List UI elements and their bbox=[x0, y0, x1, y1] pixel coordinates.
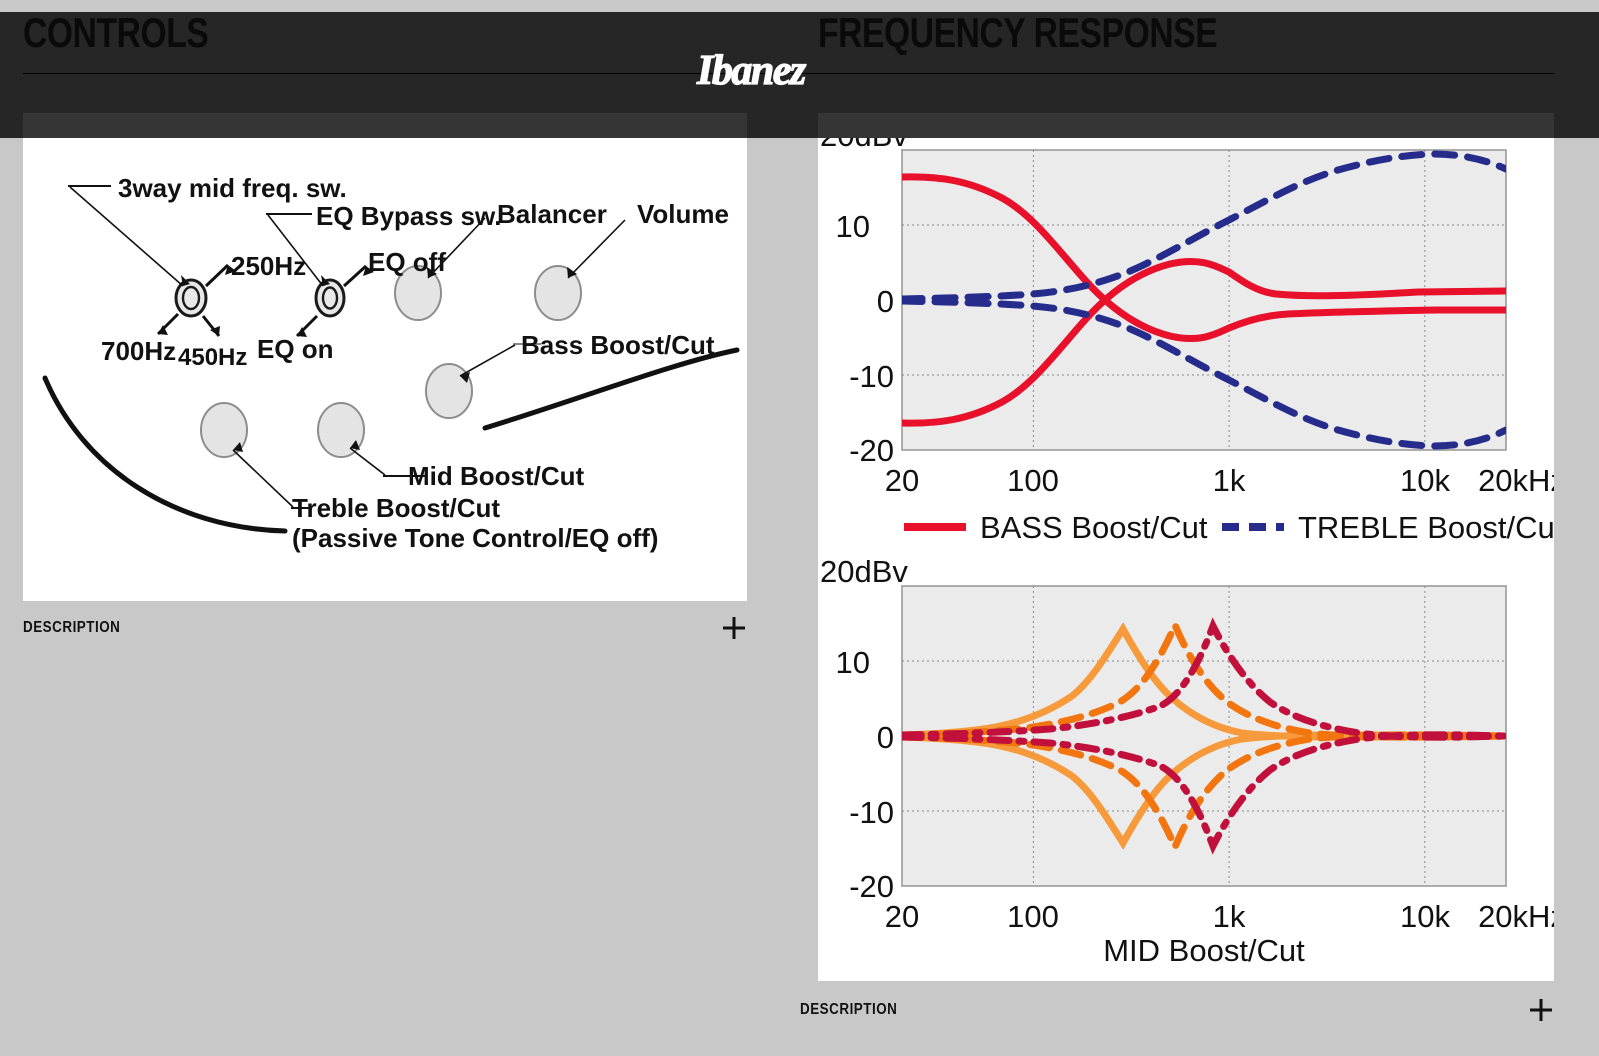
legend-label-450hz: 450Hz bbox=[1174, 979, 1264, 981]
label-eq-bypass-sw: EQ Bypass sw. bbox=[316, 201, 501, 231]
legend-label-bass: BASS Boost/Cut bbox=[980, 510, 1208, 545]
x-tick-10k-2: 10k bbox=[1400, 899, 1450, 934]
description-accordion-left[interactable]: DESCRIPTION bbox=[23, 605, 747, 650]
label-450hz: 450Hz bbox=[178, 344, 247, 371]
page-title-controls: CONTROLS bbox=[23, 12, 208, 54]
label-700hz: 700Hz bbox=[101, 336, 176, 366]
y-tick-10-1: 10 bbox=[836, 209, 870, 244]
plus-icon[interactable] bbox=[1528, 997, 1554, 1023]
label-eq-on: EQ on bbox=[257, 334, 334, 364]
label-250hz: 250Hz bbox=[231, 251, 306, 281]
label-bass-boost-cut: Bass Boost/Cut bbox=[521, 330, 715, 360]
x-axis-title-2: MID Boost/Cut bbox=[1103, 933, 1305, 968]
frequency-response-card: 20dBv 10 0 -10 -20 20 100 1k 10k 20kHz B… bbox=[818, 138, 1554, 981]
label-volume: Volume bbox=[637, 199, 729, 229]
body-outline-lower-curve bbox=[45, 378, 285, 531]
y-tick-0-1: 0 bbox=[877, 284, 894, 319]
x-tick-10k-1: 10k bbox=[1400, 463, 1450, 498]
controls-diagram: 3way mid freq. sw. 250Hz 700Hz 450Hz EQ … bbox=[23, 138, 747, 601]
label-3way-mid-freq-sw: 3way mid freq. sw. bbox=[118, 173, 347, 203]
legend-label-250hz: 250Hz bbox=[974, 979, 1064, 981]
label-treble-boost-cut: Treble Boost/Cut bbox=[292, 493, 500, 523]
x-tick-100-1: 100 bbox=[1007, 463, 1059, 498]
top-background-strip bbox=[0, 0, 1599, 12]
label-eq-off: EQ off bbox=[368, 247, 446, 277]
x-tick-1k-1: 1k bbox=[1213, 463, 1246, 498]
y-axis-unit-label-1: 20dBv bbox=[820, 138, 908, 153]
chart-legend-2: 250Hz 450Hz 700Hz bbox=[898, 979, 1458, 981]
bass-knob bbox=[426, 364, 472, 418]
x-tick-1k-2: 1k bbox=[1213, 899, 1246, 934]
x-tick-20k-2: 20kHz bbox=[1478, 899, 1554, 934]
x-tick-20-2: 20 bbox=[885, 899, 919, 934]
y-tick-neg10-1: -10 bbox=[849, 359, 894, 394]
label-treble-passive-note: (Passive Tone Control/EQ off) bbox=[292, 523, 658, 553]
label-mid-boost-cut: Mid Boost/Cut bbox=[408, 461, 585, 491]
legend-label-700hz: 700Hz bbox=[1368, 979, 1458, 981]
card-shelf-right bbox=[818, 113, 1554, 138]
body-outline-upper-curve bbox=[485, 350, 737, 428]
chart-legend-1: BASS Boost/Cut TREBLE Boost/Cut bbox=[904, 510, 1554, 545]
eq-bypass-switch-knob bbox=[316, 280, 344, 316]
x-tick-100-2: 100 bbox=[1007, 899, 1059, 934]
description-accordion-right[interactable]: DESCRIPTION bbox=[800, 986, 1554, 1034]
x-tick-20k-1: 20kHz bbox=[1478, 463, 1554, 498]
chart-bass-treble: 20dBv 10 0 -10 -20 20 100 1k 10k 20kHz B… bbox=[818, 138, 1554, 540]
x-tick-20-1: 20 bbox=[885, 463, 919, 498]
card-shelf-left bbox=[23, 113, 747, 138]
legend-label-treble: TREBLE Boost/Cut bbox=[1298, 510, 1554, 545]
description-label-right: DESCRIPTION bbox=[800, 1001, 897, 1019]
mid-freq-switch-knob bbox=[176, 280, 206, 316]
y-tick-0-2: 0 bbox=[877, 720, 894, 755]
y-tick-neg10-2: -10 bbox=[849, 795, 894, 830]
label-balancer: Balancer bbox=[497, 199, 607, 229]
controls-diagram-card: 3way mid freq. sw. 250Hz 700Hz 450Hz EQ … bbox=[23, 138, 747, 601]
description-label-left: DESCRIPTION bbox=[23, 619, 120, 637]
ibanez-logo: Ibanez bbox=[695, 48, 895, 94]
plus-icon[interactable] bbox=[721, 615, 747, 641]
chart-mid: 20dBv 10 0 -10 -20 20 100 1k 10k 20kHz M… bbox=[818, 556, 1554, 981]
y-axis-unit-label-2: 20dBv bbox=[820, 554, 908, 589]
y-tick-10-2: 10 bbox=[836, 645, 870, 680]
